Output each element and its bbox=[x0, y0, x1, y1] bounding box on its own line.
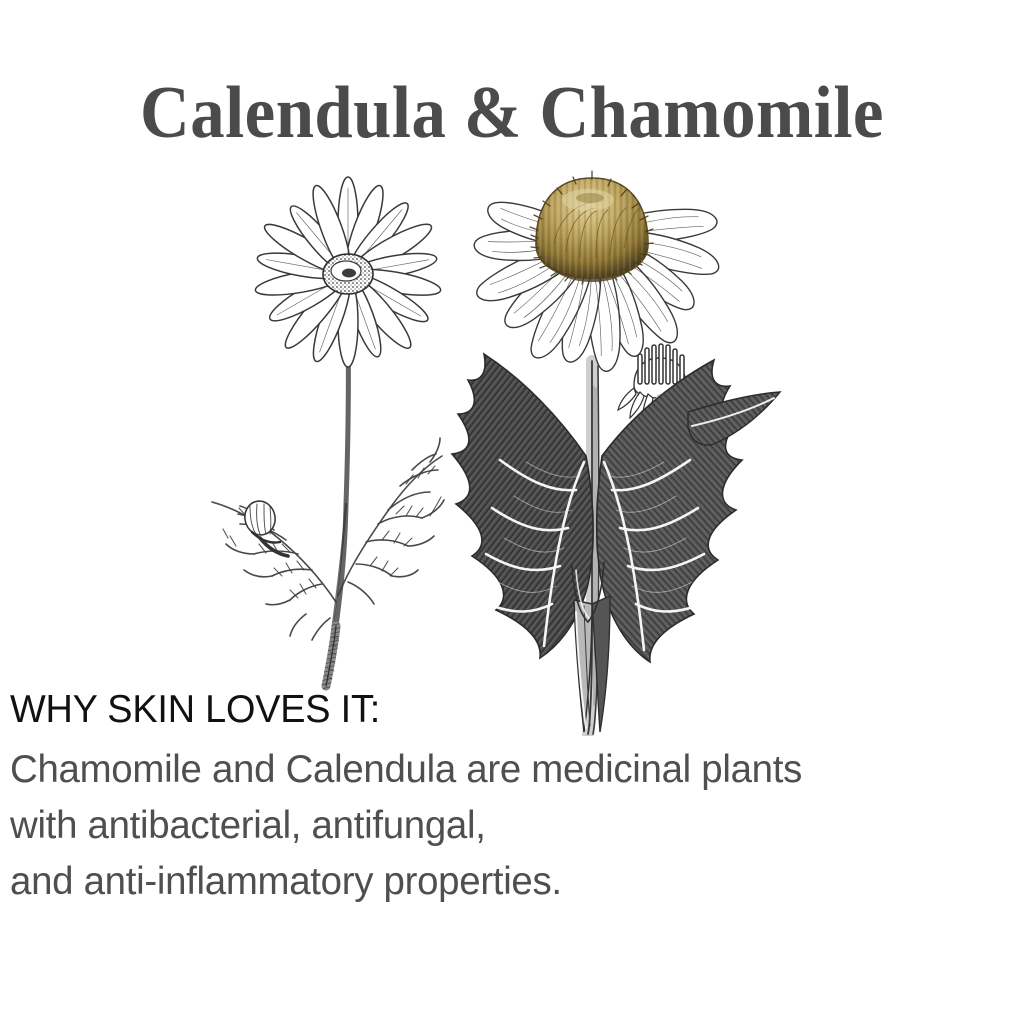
copy-block: WHY SKIN LOVES IT: Chamomile and Calendu… bbox=[10, 688, 1020, 910]
botanical-info-card: Calendula & Chamomile bbox=[0, 0, 1024, 1024]
botanical-illustration bbox=[140, 126, 800, 736]
chamomile-plant bbox=[212, 177, 444, 686]
cone-center bbox=[530, 171, 653, 284]
leaf-left bbox=[452, 354, 593, 658]
why-skin-loves-it-heading: WHY SKIN LOVES IT: bbox=[10, 688, 990, 732]
body-line-1: Chamomile and Calendula are medicinal pl… bbox=[10, 742, 1005, 798]
body-line-3: and anti-inflammatory properties. bbox=[10, 854, 1005, 910]
calendula-plant bbox=[452, 171, 780, 734]
body-line-2: with antibacterial, antifungal, bbox=[10, 798, 1005, 854]
